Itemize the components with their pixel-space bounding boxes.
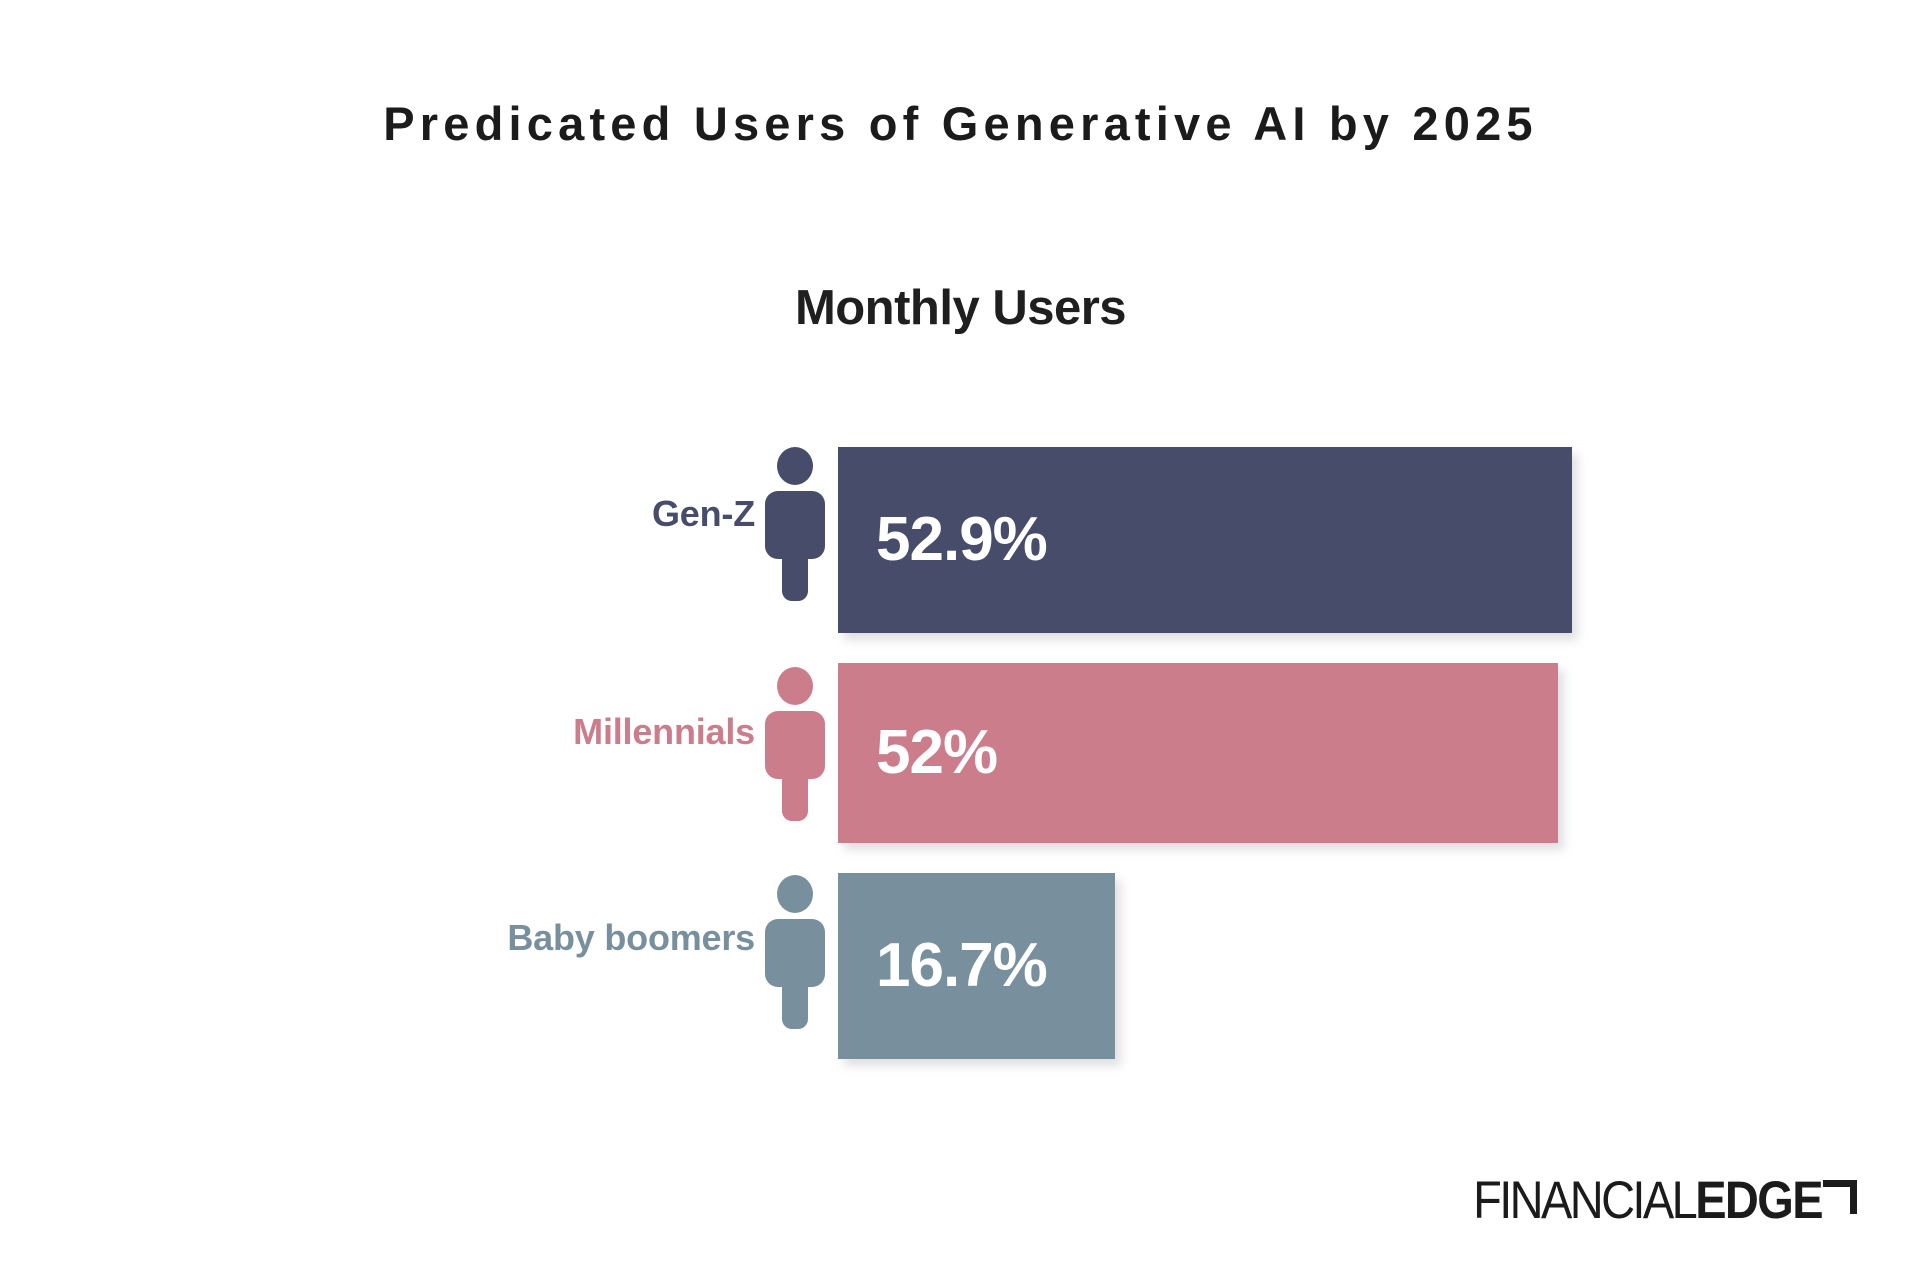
logo-word-financial: FINANCIAL — [1473, 1173, 1695, 1226]
category-label-gen-z: Gen-Z — [652, 496, 755, 532]
logo-word-edge: EDGE — [1695, 1173, 1822, 1226]
person-head-shape — [777, 447, 813, 485]
logo-corner-bracket-icon — [1823, 1180, 1857, 1214]
person-legs-shape — [782, 973, 808, 1029]
bar-row: Gen-Z 52.9% — [0, 440, 1921, 630]
bar-row: Millennials 52% — [0, 660, 1921, 850]
bar-chart-plot-area: Gen-Z 52.9% Millennials 52% Ba — [0, 0, 1921, 1268]
category-label-millennials: Millennials — [573, 714, 755, 750]
person-icon — [765, 667, 825, 819]
bar-gen-z: 52.9% — [838, 447, 1572, 633]
person-head-shape — [777, 875, 813, 913]
person-legs-shape — [782, 765, 808, 821]
infographic-canvas: Predicated Users of Generative AI by 202… — [0, 0, 1921, 1268]
financial-edge-logo: FINANCIALEDGE — [1473, 1170, 1857, 1226]
category-label-baby-boomers: Baby boomers — [507, 920, 755, 956]
person-icon — [765, 447, 825, 599]
person-icon — [765, 875, 825, 1027]
bar-row: Baby boomers 16.7% — [0, 868, 1921, 1058]
bar-baby-boomers: 16.7% — [838, 873, 1115, 1059]
person-legs-shape — [782, 545, 808, 601]
person-head-shape — [777, 667, 813, 705]
bar-value-label: 52.9% — [876, 509, 1047, 571]
bar-value-label: 52% — [876, 722, 997, 784]
bar-value-label: 16.7% — [876, 935, 1047, 997]
bar-millennials: 52% — [838, 663, 1558, 843]
